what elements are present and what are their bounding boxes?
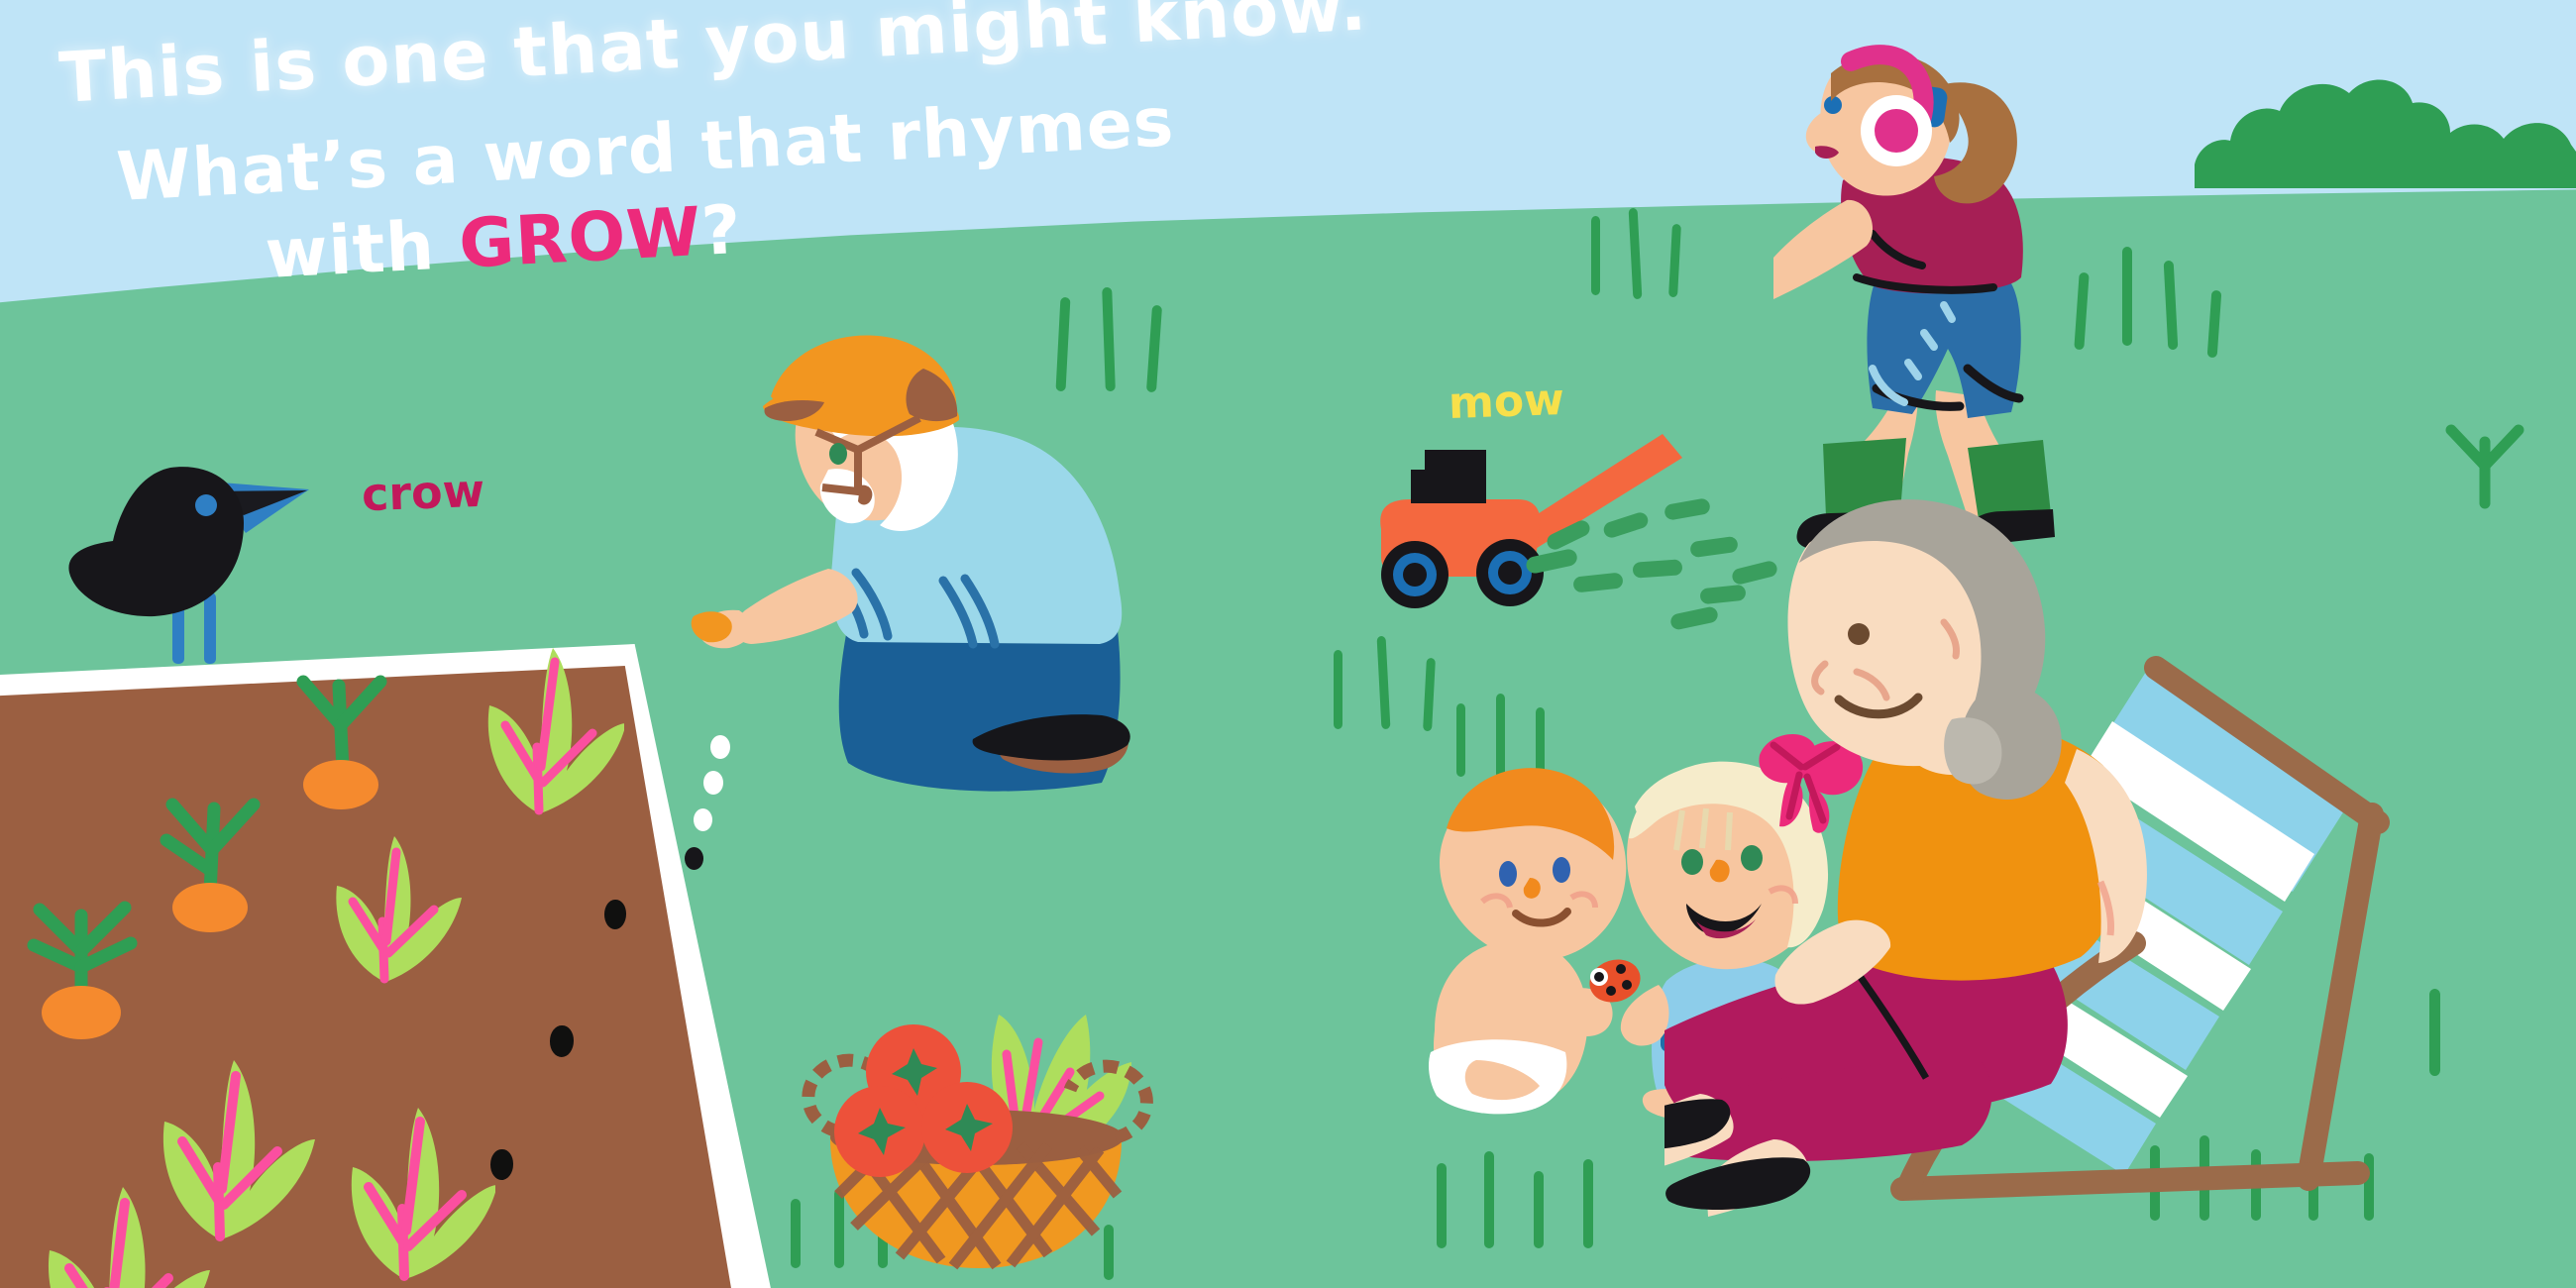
crow-bird-icon xyxy=(59,446,337,674)
label-mow: mow xyxy=(1448,375,1564,429)
carrot-plant-icon xyxy=(149,783,277,941)
chard-plant-icon xyxy=(307,1050,495,1288)
chard-plant-icon xyxy=(297,783,466,991)
chard-plant-icon xyxy=(0,1129,218,1288)
label-crow: crow xyxy=(361,464,485,521)
falling-seed-icon xyxy=(703,771,723,795)
bush-icon xyxy=(2195,59,2576,188)
granny-deckchair-figure xyxy=(1664,495,2576,1248)
line3-prefix: with xyxy=(264,206,462,294)
falling-seed-icon xyxy=(685,847,703,870)
seed-icon xyxy=(604,900,626,929)
grow-highlight: GROW xyxy=(457,193,703,284)
chard-plant-icon xyxy=(446,594,624,822)
gardener-figure xyxy=(654,327,1288,862)
grass-tuft-icon xyxy=(1585,208,1714,317)
illustration-canvas: crow xyxy=(0,0,2576,1288)
vegetable-basket xyxy=(783,1001,1179,1288)
seed-icon xyxy=(490,1149,513,1180)
grass-tuft-icon xyxy=(1427,1149,1655,1278)
falling-seed-icon xyxy=(694,808,712,831)
falling-seed-icon xyxy=(710,735,730,759)
line3-suffix: ? xyxy=(699,191,744,271)
seed-icon xyxy=(550,1025,574,1057)
